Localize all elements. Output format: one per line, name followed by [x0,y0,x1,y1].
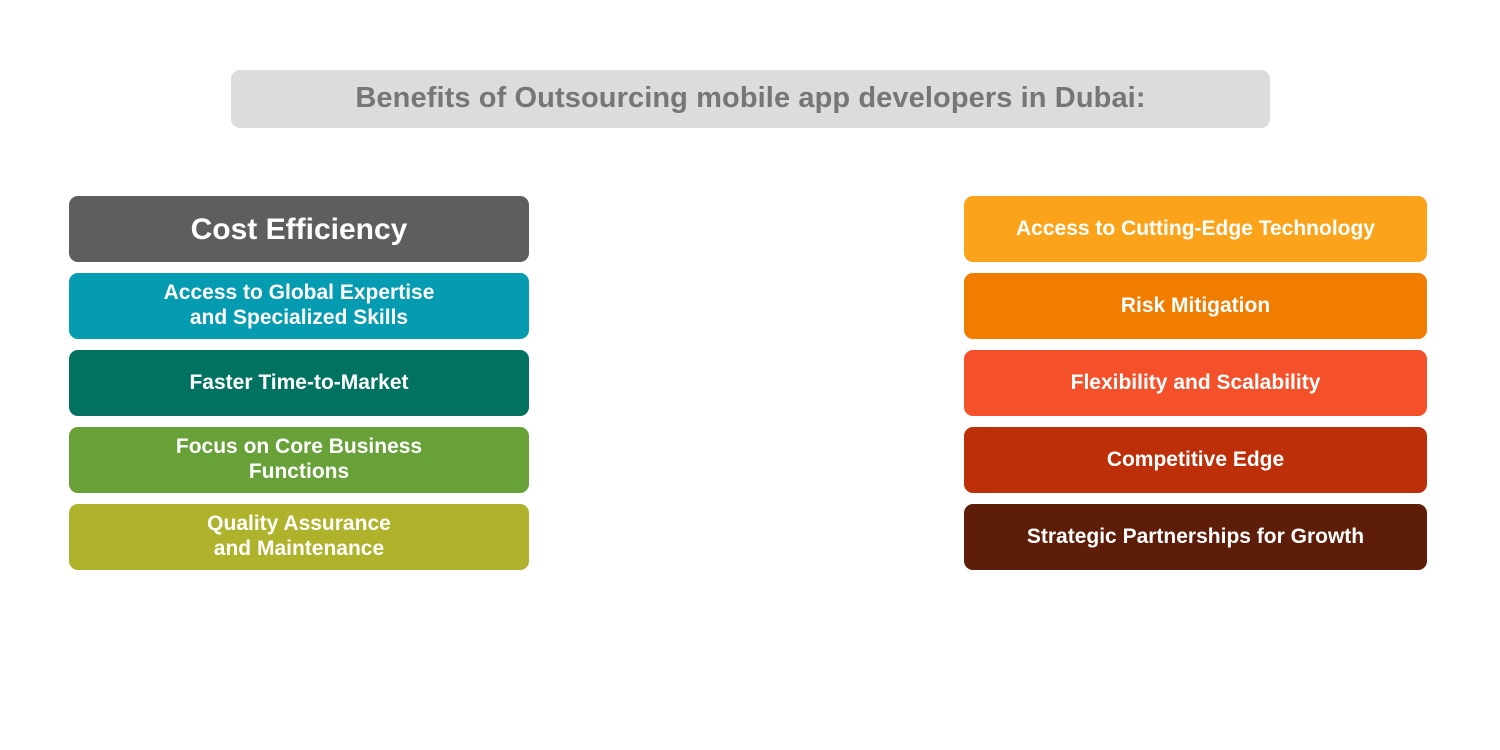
benefits-column-right: Access to Cutting-Edge Technology Risk M… [964,196,1427,570]
benefit-label: Quality Assurance and Maintenance [207,512,391,562]
benefit-card-faster-time-to-market[interactable]: Faster Time-to-Market [69,350,529,416]
benefit-card-flexibility-scalability[interactable]: Flexibility and Scalability [964,350,1427,416]
benefit-label: Flexibility and Scalability [1071,371,1321,396]
benefit-label: Access to Cutting-Edge Technology [1016,217,1375,242]
benefit-label: Risk Mitigation [1121,294,1270,319]
benefit-label: Faster Time-to-Market [189,371,408,396]
benefits-column-left: Cost Efficiency Access to Global Experti… [69,196,529,570]
benefit-card-focus-core-business[interactable]: Focus on Core Business Functions [69,427,529,493]
benefit-label: Focus on Core Business Functions [176,435,422,485]
benefit-card-risk-mitigation[interactable]: Risk Mitigation [964,273,1427,339]
benefit-label: Access to Global Expertise and Specializ… [164,281,435,331]
title-banner: Benefits of Outsourcing mobile app devel… [231,70,1270,128]
benefit-card-global-expertise[interactable]: Access to Global Expertise and Specializ… [69,273,529,339]
benefit-card-cost-efficiency[interactable]: Cost Efficiency [69,196,529,262]
benefit-card-quality-assurance[interactable]: Quality Assurance and Maintenance [69,504,529,570]
benefit-label: Strategic Partnerships for Growth [1027,525,1364,550]
page-title: Benefits of Outsourcing mobile app devel… [355,83,1145,115]
benefit-label: Competitive Edge [1107,448,1284,473]
benefit-label: Cost Efficiency [191,213,408,246]
benefit-card-competitive-edge[interactable]: Competitive Edge [964,427,1427,493]
benefit-card-strategic-partnerships[interactable]: Strategic Partnerships for Growth [964,504,1427,570]
benefit-card-cutting-edge-technology[interactable]: Access to Cutting-Edge Technology [964,196,1427,262]
